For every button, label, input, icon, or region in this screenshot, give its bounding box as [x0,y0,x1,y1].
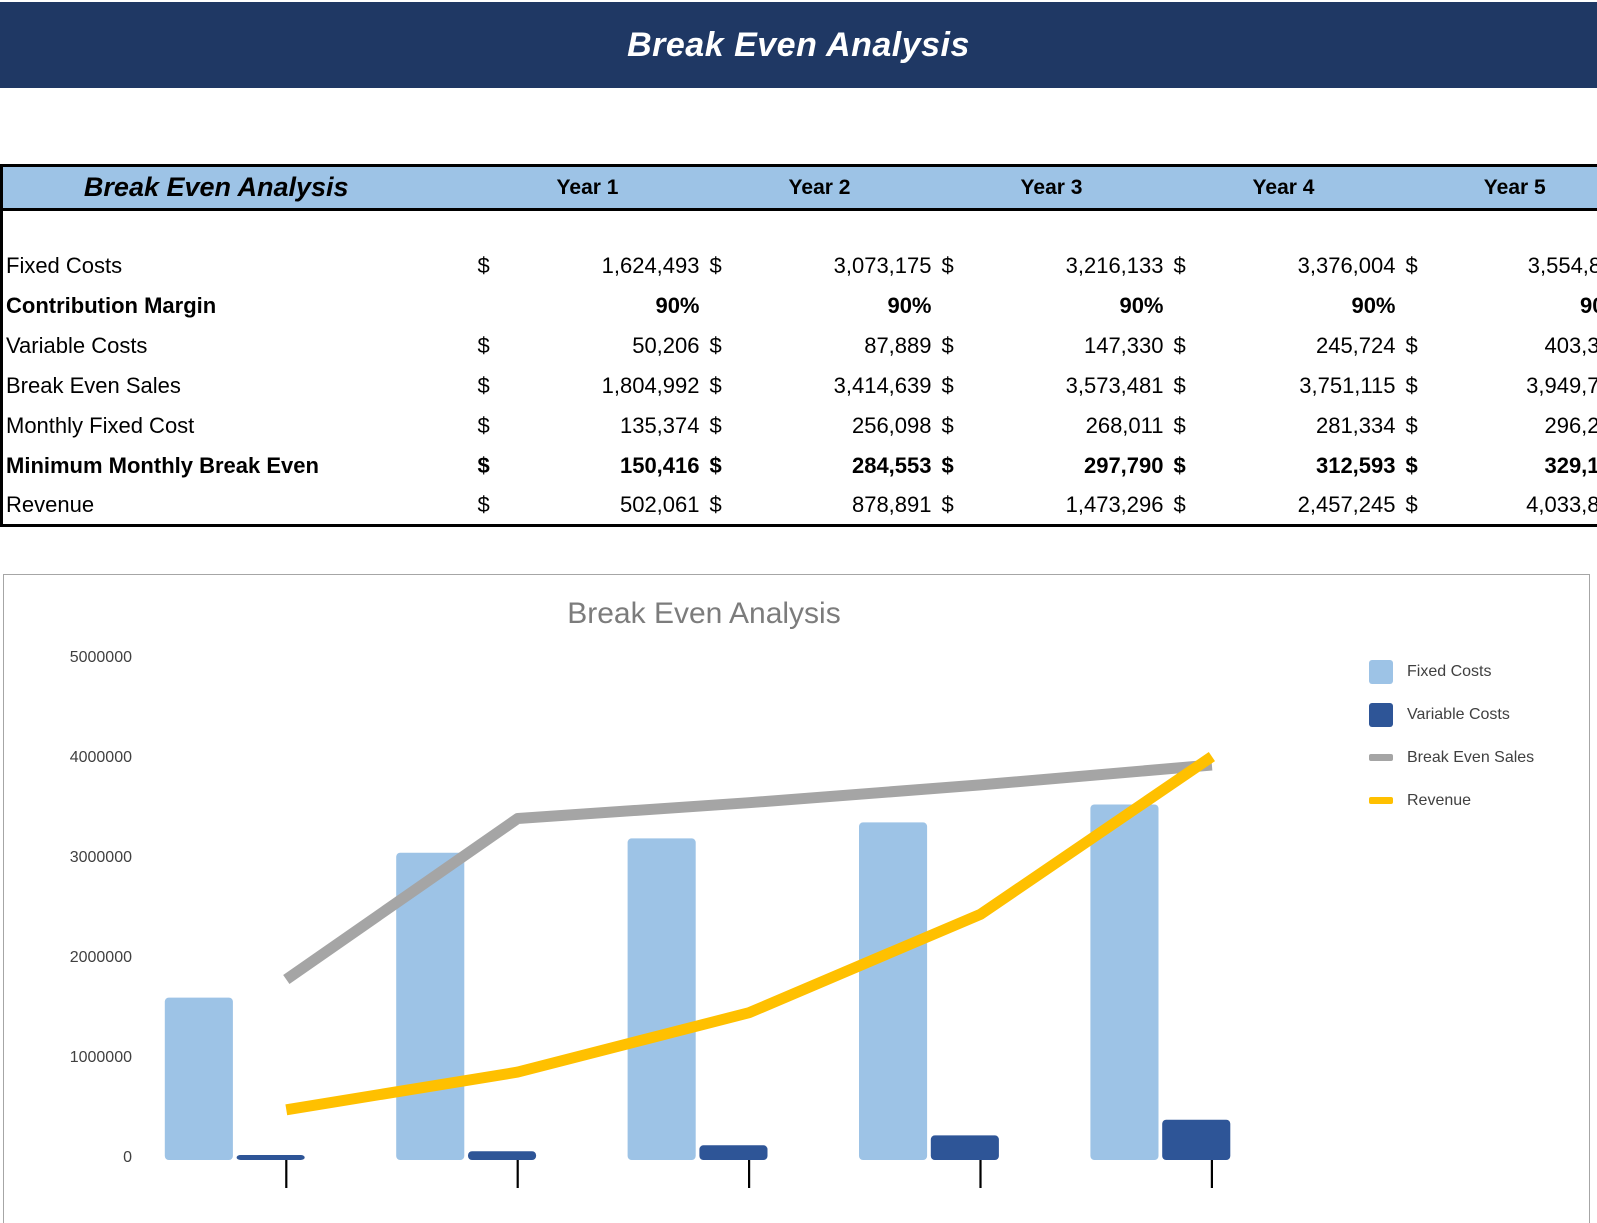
table-cell-value: 403,382 [1430,326,1597,366]
table-cell-value: 150,416 [502,446,704,486]
table-currency-symbol: $ [1168,486,1198,526]
table-currency-symbol: $ [472,486,502,526]
table-cell-value: 90% [1198,286,1400,326]
legend-swatch-revenue-icon [1369,797,1393,804]
legend-swatch-break-even-sales-icon [1369,754,1393,761]
table-col-header-year-3: Year 3 [936,166,1168,210]
table-currency-symbol: $ [472,446,502,486]
table-cell-value: 3,414,639 [734,366,936,406]
table-currency-symbol: $ [472,246,502,286]
table-currency-symbol: $ [472,366,502,406]
legend-label: Break Even Sales [1407,749,1534,767]
chart-bar-fixed-costs [859,822,927,1160]
table-cell-value: 296,234 [1430,406,1597,446]
break-even-table: Break Even Analysis Year 1 Year 2 Year 3… [0,164,1597,527]
legend-item[interactable]: Fixed Costs [1369,650,1569,693]
legend-label: Fixed Costs [1407,663,1491,681]
page-title-banner: Break Even Analysis [0,2,1597,88]
table-row: Revenue$502,061$878,891$1,473,296$2,457,… [2,486,1597,526]
chart-bar-variable-costs [699,1145,767,1160]
legend-item[interactable]: Variable Costs [1369,693,1569,736]
table-currency-symbol: $ [1168,406,1198,446]
table-col-header-year-5: Year 5 [1400,166,1597,210]
table-cell-value: 1,804,992 [502,366,704,406]
table-col-header-year-2: Year 2 [704,166,936,210]
table-currency-symbol: $ [1168,446,1198,486]
table-cell-value: 90% [1430,286,1597,326]
table-cell-value: 502,061 [502,486,704,526]
table-cell-value: 3,949,790 [1430,366,1597,406]
legend-item[interactable]: Revenue [1369,779,1569,822]
chart-bar-variable-costs [931,1135,999,1160]
table-spacer-cell [472,210,502,246]
legend-swatch-fixed-costs-icon [1369,660,1393,684]
table-spacer-cell [1198,210,1400,246]
table-cell-value: 2,457,245 [1198,486,1400,526]
table-header-row: Break Even Analysis Year 1 Year 2 Year 3… [2,166,1597,210]
table-spacer-cell [502,210,704,246]
table-row-label: Fixed Costs [2,246,472,286]
table-spacer-cell [1430,210,1597,246]
legend-swatch-variable-costs-icon [1369,703,1393,727]
table-row: Contribution Margin90%90%90%90%90% [2,286,1597,326]
table-cell-value: 256,098 [734,406,936,446]
table-currency-symbol: $ [1400,486,1430,526]
table-cell-value: 87,889 [734,326,936,366]
chart-bar-fixed-costs [165,998,233,1160]
chart-legend: Fixed CostsVariable CostsBreak Even Sale… [1369,650,1569,822]
table-spacer-cell [936,210,966,246]
table-spacer-cell [966,210,1168,246]
table-cell-value: 90% [502,286,704,326]
table-cell-value: 4,033,816 [1430,486,1597,526]
table-currency-symbol: $ [1400,406,1430,446]
table-currency-symbol [936,286,966,326]
table-col-header-year-1: Year 1 [472,166,704,210]
table-currency-symbol: $ [1400,366,1430,406]
legend-label: Variable Costs [1407,706,1510,724]
chart-bar-variable-costs [468,1151,536,1160]
table-currency-symbol: $ [936,486,966,526]
table-currency-symbol: $ [936,446,966,486]
table-currency-symbol: $ [704,366,734,406]
table-cell-value: 297,790 [966,446,1168,486]
table-cell-value: 50,206 [502,326,704,366]
table-cell-value: 90% [966,286,1168,326]
table-currency-symbol: $ [704,406,734,446]
table-cell-value: 1,473,296 [966,486,1168,526]
table-cell-value: 1,624,493 [502,246,704,286]
table-row-label: Break Even Sales [2,366,472,406]
chart-plot-area [4,575,1590,1223]
table-row: Minimum Monthly Break Even$150,416$284,5… [2,446,1597,486]
table-spacer-cell [1400,210,1430,246]
table-cell-value: 281,334 [1198,406,1400,446]
table-currency-symbol [704,286,734,326]
page-title: Break Even Analysis [627,26,970,65]
table-corner-title: Break Even Analysis [2,166,472,210]
table-cell-value: 147,330 [966,326,1168,366]
chart-bar-fixed-costs [1090,805,1158,1161]
table-cell-value: 3,376,004 [1198,246,1400,286]
table-cell-value: 3,554,811 [1430,246,1597,286]
table-currency-symbol: $ [1168,326,1198,366]
chart-bar-fixed-costs [628,838,696,1160]
table-currency-symbol: $ [472,326,502,366]
table-row: Fixed Costs$1,624,493$3,073,175$3,216,13… [2,246,1597,286]
table-currency-symbol: $ [1168,246,1198,286]
table-spacer-cell [734,210,936,246]
table-currency-symbol [1400,286,1430,326]
table-currency-symbol: $ [472,406,502,446]
table-currency-symbol: $ [704,326,734,366]
table-spacer-cell [1168,210,1198,246]
table-cell-value: 284,553 [734,446,936,486]
table-cell-value: 329,149 [1430,446,1597,486]
chart-panel: Break Even Analysis 01000000200000030000… [3,574,1590,1223]
table-currency-symbol [1168,286,1198,326]
legend-label: Revenue [1407,792,1471,810]
table-cell-value: 90% [734,286,936,326]
table-row-label: Contribution Margin [2,286,472,326]
table-cell-value: 312,593 [1198,446,1400,486]
table-cell-value: 3,216,133 [966,246,1168,286]
table-cell-value: 268,011 [966,406,1168,446]
chart-bar-variable-costs [237,1155,305,1160]
table-currency-symbol: $ [1400,326,1430,366]
table-currency-symbol: $ [1400,446,1430,486]
table-cell-value: 3,751,115 [1198,366,1400,406]
table-row-label: Revenue [2,486,472,526]
table-currency-symbol: $ [704,446,734,486]
table-cell-value: 135,374 [502,406,704,446]
table-head: Break Even Analysis Year 1 Year 2 Year 3… [2,166,1597,210]
table-currency-symbol: $ [1168,366,1198,406]
table-cell-value: 878,891 [734,486,936,526]
table-cell-value: 3,573,481 [966,366,1168,406]
table-row-label: Variable Costs [2,326,472,366]
table-col-header-year-4: Year 4 [1168,166,1400,210]
table-row: Monthly Fixed Cost$135,374$256,098$268,0… [2,406,1597,446]
table-row-label: Monthly Fixed Cost [2,406,472,446]
chart-bar-variable-costs [1162,1120,1230,1160]
table-currency-symbol: $ [936,326,966,366]
table-currency-symbol: $ [704,246,734,286]
table-cell-value: 245,724 [1198,326,1400,366]
table-row: Break Even Sales$1,804,992$3,414,639$3,5… [2,366,1597,406]
legend-item[interactable]: Break Even Sales [1369,736,1569,779]
table-currency-symbol: $ [936,246,966,286]
table-spacer-cell [2,210,472,246]
table-spacer-row [2,210,1597,246]
table-spacer-cell [704,210,734,246]
table-currency-symbol: $ [936,406,966,446]
table-currency-symbol: $ [704,486,734,526]
table-row-label: Minimum Monthly Break Even [2,446,472,486]
table-row: Variable Costs$50,206$87,889$147,330$245… [2,326,1597,366]
table-currency-symbol [472,286,502,326]
table-currency-symbol: $ [936,366,966,406]
table-cell-value: 3,073,175 [734,246,936,286]
table-body: Fixed Costs$1,624,493$3,073,175$3,216,13… [2,210,1597,526]
table-currency-symbol: $ [1400,246,1430,286]
